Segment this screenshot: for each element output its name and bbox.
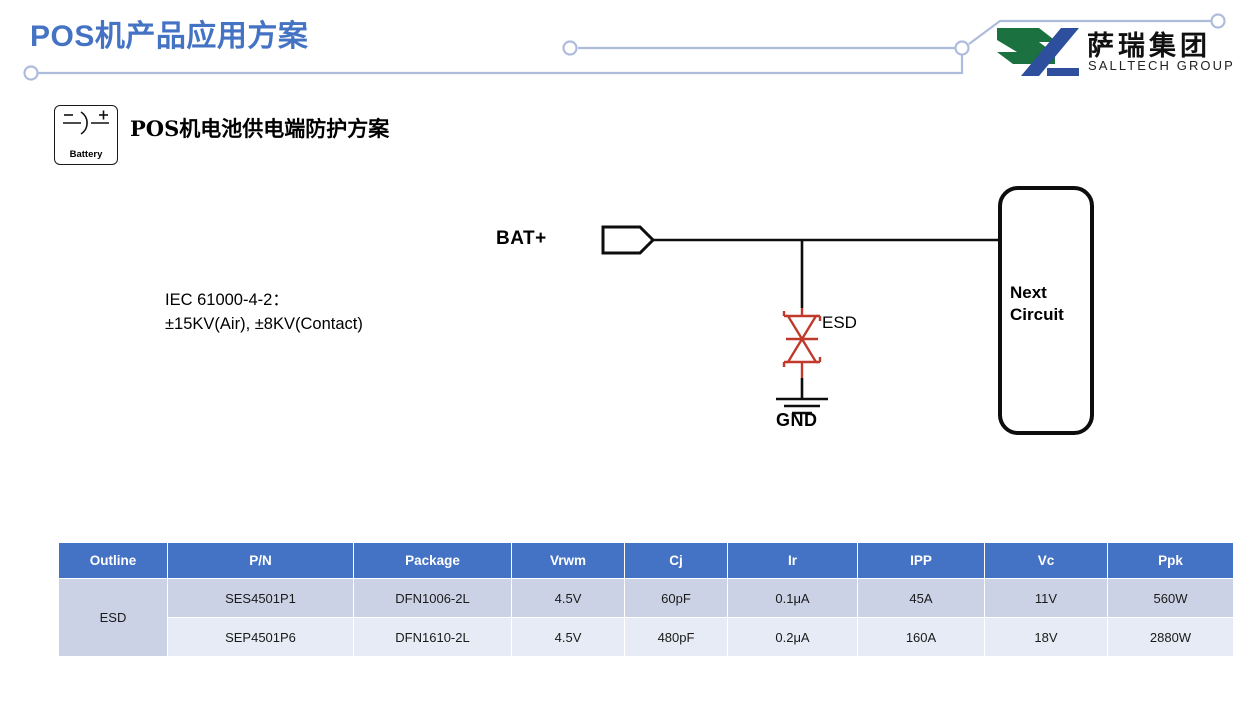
brand-logo: 萨瑞集团 SALLTECH GROUP [995,24,1227,80]
salltech-logo-mark [995,26,1081,78]
col-vrwm: Vrwm [512,543,625,579]
next-circuit-label: Next Circuit [1010,282,1064,326]
cell-cj: 60pF [625,579,728,618]
table-row: ESD SES4501P1 DFN1006-2L 4.5V 60pF 0.1μA… [59,579,1234,618]
bat-plus-label: BAT+ [496,228,547,250]
deco-node-left [25,67,38,80]
cell-package: DFN1006-2L [354,579,512,618]
col-vc: Vc [985,543,1108,579]
cell-vrwm: 4.5V [512,618,625,657]
cell-pn: SEP4501P6 [168,618,354,657]
col-ipp: IPP [858,543,985,579]
col-cj: Cj [625,543,728,579]
battery-icon-caption: Battery [55,149,117,160]
cell-ppk: 560W [1108,579,1234,618]
section-heading: POS机电池供电端防护方案 [130,113,389,143]
cell-cj: 480pF [625,618,728,657]
battery-symbol [55,106,117,146]
col-package: Package [354,543,512,579]
cell-vrwm: 4.5V [512,579,625,618]
outline-group-cell: ESD [59,579,168,657]
next-circuit-line1: Next [1010,282,1064,304]
table-header-row: Outline P/N Package Vrwm Cj Ir IPP Vc Pp… [59,543,1234,579]
col-ppk: Ppk [1108,543,1234,579]
cell-ir: 0.1μA [728,579,858,618]
esd-label: ESD [822,313,857,333]
iec-spec-line2: ±15KV(Air), ±8KV(Contact) [165,312,363,336]
table-row: SEP4501P6 DFN1610-2L 4.5V 480pF 0.2μA 16… [59,618,1234,657]
battery-icon: Battery [54,105,118,165]
esd-diode-symbol [784,308,820,378]
deco-node-middle [564,42,577,55]
cell-vc: 18V [985,618,1108,657]
cell-package: DFN1610-2L [354,618,512,657]
gnd-label: GND [776,410,818,431]
spec-table: Outline P/N Package Vrwm Cj Ir IPP Vc Pp… [58,542,1234,657]
page-title: POS机产品应用方案 [30,11,308,55]
deco-node-corner [956,42,969,55]
col-pn: P/N [168,543,354,579]
cell-ipp: 160A [858,618,985,657]
col-outline: Outline [59,543,168,579]
iec-spec-note: IEC 61000-4-2： ±15KV(Air), ±8KV(Contact) [165,288,363,336]
cell-vc: 11V [985,579,1108,618]
cell-ir: 0.2μA [728,618,858,657]
logo-english-name: SALLTECH GROUP [1088,58,1235,73]
cell-ppk: 2880W [1108,618,1234,657]
bat-plus-connector [603,227,653,253]
iec-spec-line1: IEC 61000-4-2： [165,288,363,312]
next-circuit-line2: Circuit [1010,304,1064,326]
col-ir: Ir [728,543,858,579]
cell-pn: SES4501P1 [168,579,354,618]
cell-ipp: 45A [858,579,985,618]
